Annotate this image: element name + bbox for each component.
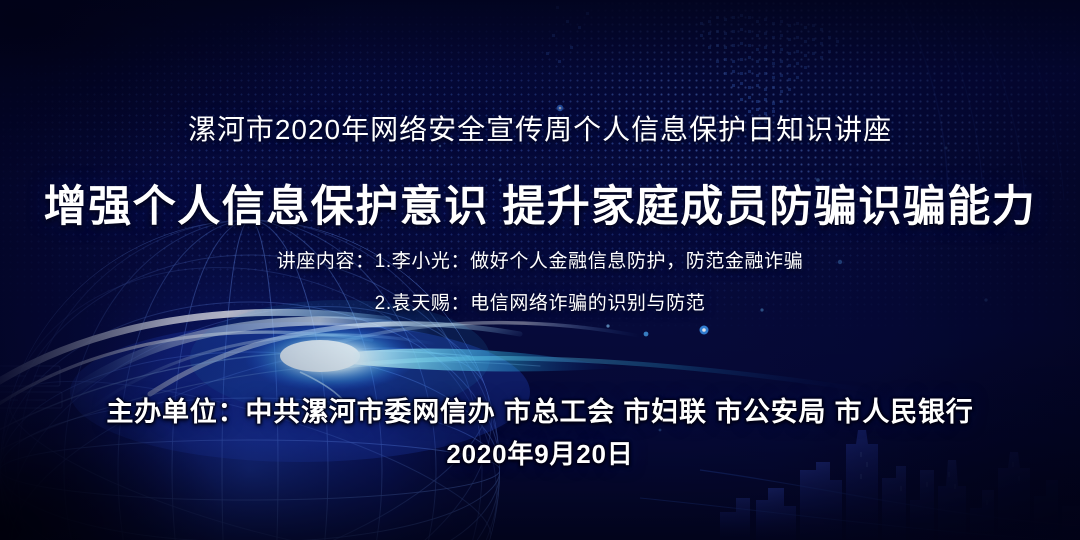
poster-date: 2020年9月20日 [0, 434, 1080, 471]
poster-headline: 增强个人信息保护意识 提升家庭成员防骗识骗能力 [0, 172, 1080, 234]
lecture-content-line-1: 讲座内容：1.李小光：做好个人金融信息防护，防范金融诈骗 [0, 246, 1080, 273]
poster-organizer: 主办单位：中共漯河市委网信办 市总工会 市妇联 市公安局 市人民银行 [0, 390, 1080, 429]
poster-subtitle: 漯河市2020年网络安全宣传周个人信息保护日知识讲座 [0, 108, 1080, 148]
poster-canvas: 漯河市2020年网络安全宣传周个人信息保护日知识讲座 增强个人信息保护意识 提升… [0, 0, 1080, 540]
lecture-content-line-2: 2.袁天赐：电信网络诈骗的识别与防范 [0, 288, 1080, 315]
